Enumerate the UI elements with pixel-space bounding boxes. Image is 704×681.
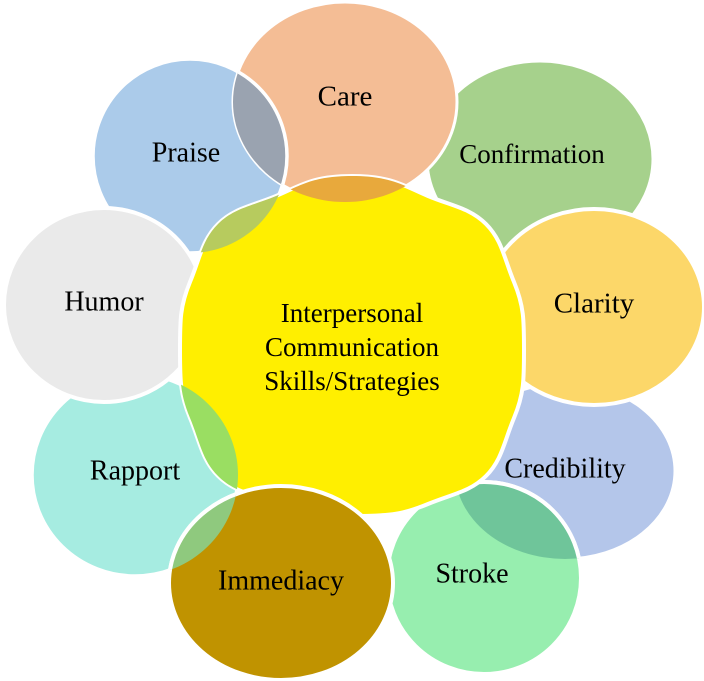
petal-label-praise: Praise [152, 137, 220, 168]
petal-label-clarity: Clarity [554, 288, 635, 320]
petal-label-immediacy: Immediacy [218, 565, 344, 596]
center-title-line-2: Communication [265, 332, 439, 362]
petal-label-care: Care [318, 81, 373, 113]
center-title-line-1: Interpersonal [281, 298, 423, 328]
petal-label-humor: Humor [64, 286, 144, 317]
petal-label-confirmation: Confirmation [459, 139, 605, 169]
center-title-line-3: Skills/Strategies [264, 366, 440, 396]
petal-label-credibility: Credibility [504, 453, 625, 484]
petal-label-stroke: Stroke [435, 558, 508, 589]
petal-diagram: Care Confirmation Clarity Credibility St… [0, 0, 704, 681]
center-title: Interpersonal Communication Skills/Strat… [264, 298, 440, 396]
diagram-canvas: Care Confirmation Clarity Credibility St… [0, 0, 704, 681]
petal-label-rapport: Rapport [90, 455, 180, 486]
